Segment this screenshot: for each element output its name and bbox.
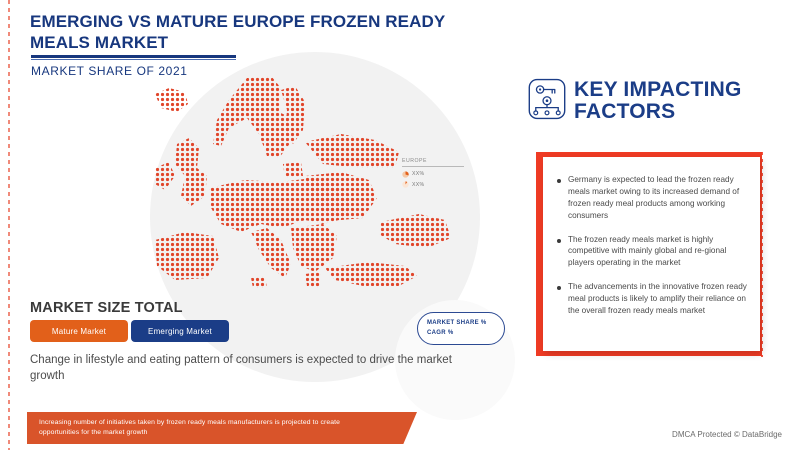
bullet-dot-icon [557, 286, 561, 290]
europe-map-svg [155, 72, 455, 322]
chip-mature-market[interactable]: Mature Market [30, 320, 128, 342]
list-item: Germany is expected to lead the frozen r… [557, 174, 748, 222]
key-factor-text: The advancements in the innovative froze… [568, 281, 748, 317]
map-legend-row: XX% [402, 181, 472, 188]
map-legend-title: EUROPE [402, 158, 464, 167]
lead-text: Change in lifestyle and eating pattern o… [30, 353, 460, 384]
title-underline [31, 55, 236, 58]
dmca-footer: DMCA Protected © DataBridge [672, 430, 782, 439]
map-legend-value: XX% [412, 171, 424, 177]
map-legend-value: XX% [412, 182, 424, 188]
key-factor-text: The frozen ready meals market is highly … [568, 234, 748, 270]
market-size-title: MARKET SIZE TOTAL [30, 300, 183, 316]
chip-emerging-market[interactable]: Emerging Market [131, 320, 229, 342]
list-item: The frozen ready meals market is highly … [557, 234, 748, 270]
europe-dot-map [155, 72, 455, 322]
key-factors-card: Germany is expected to lead the frozen r… [543, 157, 760, 351]
bullet-dot-icon [557, 179, 561, 183]
pie-chart-icon [402, 171, 409, 178]
map-legend-row: XX% [402, 171, 472, 178]
market-share-badge: MARKET SHARE % CAGR % [417, 312, 505, 345]
list-item: The advancements in the innovative froze… [557, 281, 748, 317]
market-share-label: MARKET SHARE % [427, 319, 504, 329]
page-title: EMERGING VS MATURE EUROPE FROZEN READY M… [30, 12, 460, 53]
cagr-label: CAGR % [427, 329, 504, 339]
bullet-dot-icon [557, 239, 561, 243]
title-underline-thin [31, 59, 236, 60]
slide-root: EMERGING VS MATURE EUROPE FROZEN READY M… [0, 0, 800, 450]
key-network-icon [528, 78, 566, 120]
pie-chart-icon [402, 181, 409, 188]
map-legend: EUROPE XX% XX% [402, 158, 472, 188]
insight-banner: Increasing number of initiatives taken b… [27, 412, 417, 444]
key-factors-title: KEY IMPACTING FACTORS [574, 79, 784, 124]
key-factor-text: Germany is expected to lead the frozen r… [568, 174, 748, 222]
insight-banner-text: Increasing number of initiatives taken b… [39, 418, 379, 438]
left-dashed-rail [8, 0, 10, 450]
